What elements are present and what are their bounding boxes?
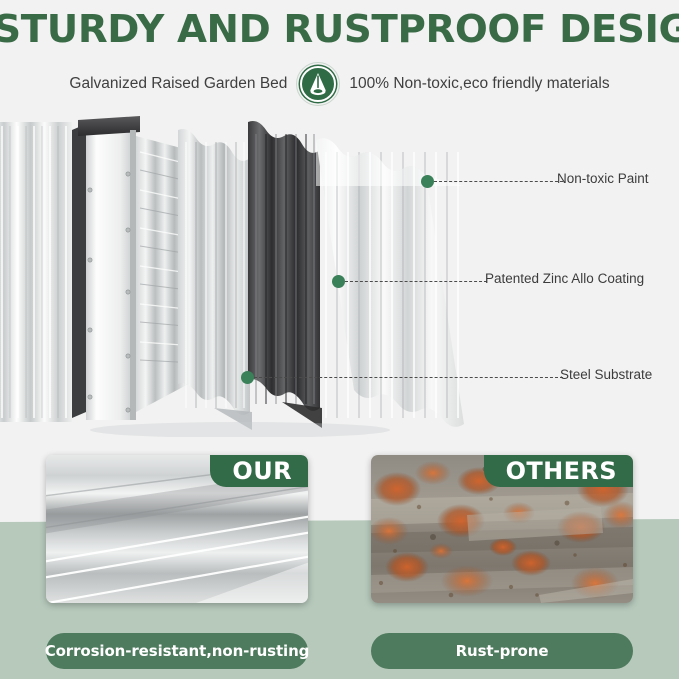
callout-label: Patented Zinc Allo Coating — [485, 271, 644, 286]
our-caption-pill: Corrosion-resistant,non-rusting — [46, 633, 308, 669]
assembled-bed-group — [0, 116, 196, 422]
infographic-page: STURDY AND RUSTPROOF DESIGN Galvanized R… — [0, 0, 679, 679]
our-photo: OUR — [46, 455, 308, 603]
others-photo: OTHERS — [371, 455, 633, 603]
callout-leader-line — [254, 377, 563, 378]
callout-dot-icon — [421, 175, 434, 188]
exploded-panel-illustration — [0, 112, 510, 437]
subtitle-row: Galvanized Raised Garden Bed 100% Non-to… — [0, 62, 679, 106]
subtitle-right-text: 100% Non-toxic,eco friendly materials — [349, 76, 609, 92]
page-title: STURDY AND RUSTPROOF DESIGN — [0, 7, 679, 51]
callout-dot-icon — [241, 371, 254, 384]
steel-substrate-sheet — [178, 129, 252, 430]
callout-leader-line — [345, 281, 487, 282]
comparison-card-others: OTHERS Rust-prone — [371, 455, 633, 603]
subtitle-left-text: Galvanized Raised Garden Bed — [69, 76, 287, 92]
eco-leaf-badge-icon — [296, 62, 340, 106]
callout-label: Steel Substrate — [560, 367, 652, 382]
callout-label: Non-toxic Paint — [557, 171, 649, 186]
zinc-coating-sheet — [248, 121, 322, 428]
our-tab-badge: OUR — [210, 455, 308, 487]
callout-leader-line — [434, 181, 563, 182]
others-tab-badge: OTHERS — [484, 455, 633, 487]
callout-dot-icon — [332, 275, 345, 288]
others-caption-pill: Rust-prone — [371, 633, 633, 669]
badge-leaf-glyph — [300, 66, 336, 102]
comparison-card-our: OUR Corrosion-resistant,non-rusting — [46, 455, 308, 603]
